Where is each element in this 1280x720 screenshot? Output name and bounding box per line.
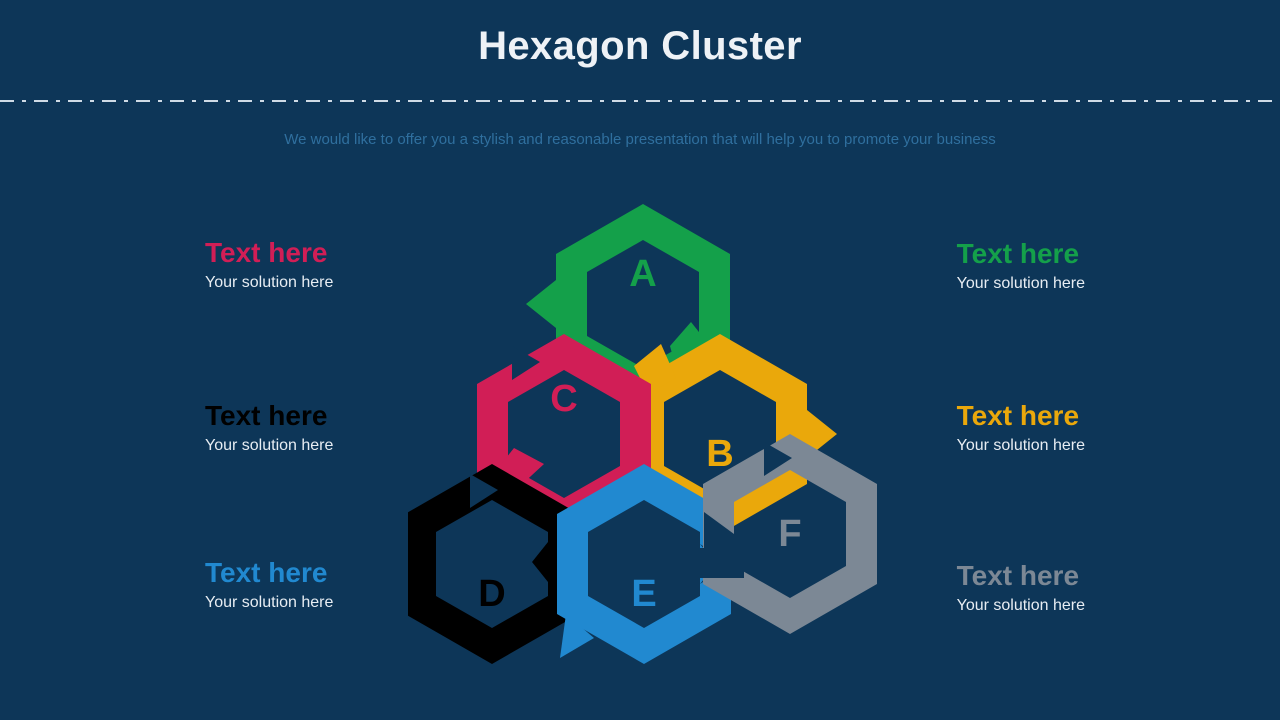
caption-right-2-heading: Text here (957, 401, 1085, 430)
page-title: Hexagon Cluster (0, 24, 1280, 69)
caption-left-2[interactable]: Text here Your solution here (205, 401, 333, 455)
caption-left-1[interactable]: Text here Your solution here (205, 238, 333, 292)
caption-left-1-sub: Your solution here (205, 274, 333, 292)
caption-left-2-heading: Text here (205, 401, 333, 430)
caption-right-3-heading: Text here (957, 561, 1085, 590)
connector-e-f (700, 548, 744, 578)
hexagon-C-label: C (550, 378, 577, 420)
hexagon-B-label: B (706, 433, 733, 475)
caption-right-2-sub: Your solution here (957, 437, 1085, 455)
hexagon-D-label: D (478, 573, 505, 615)
caption-right-1[interactable]: Text here Your solution here (957, 239, 1085, 293)
caption-right-3[interactable]: Text here Your solution here (957, 561, 1085, 615)
hexagon-cluster-diagram: A B C D (408, 196, 884, 672)
caption-left-1-heading: Text here (205, 238, 333, 267)
header-divider (0, 100, 1280, 102)
hexagon-A-arrow-left (526, 280, 556, 328)
caption-right-3-sub: Your solution here (957, 597, 1085, 615)
hexagon-F-label: F (778, 513, 801, 555)
hexagon-A-label: A (629, 253, 656, 295)
slide-canvas: Hexagon Cluster We would like to offer y… (0, 0, 1280, 720)
caption-right-1-sub: Your solution here (957, 275, 1085, 293)
caption-left-3-heading: Text here (205, 558, 333, 587)
caption-right-1-heading: Text here (957, 239, 1085, 268)
caption-left-2-sub: Your solution here (205, 437, 333, 455)
caption-left-3-sub: Your solution here (205, 594, 333, 612)
caption-right-2[interactable]: Text here Your solution here (957, 401, 1085, 455)
caption-left-3[interactable]: Text here Your solution here (205, 558, 333, 612)
page-subtitle: We would like to offer you a stylish and… (0, 131, 1280, 148)
hexagon-E-label: E (631, 573, 656, 615)
